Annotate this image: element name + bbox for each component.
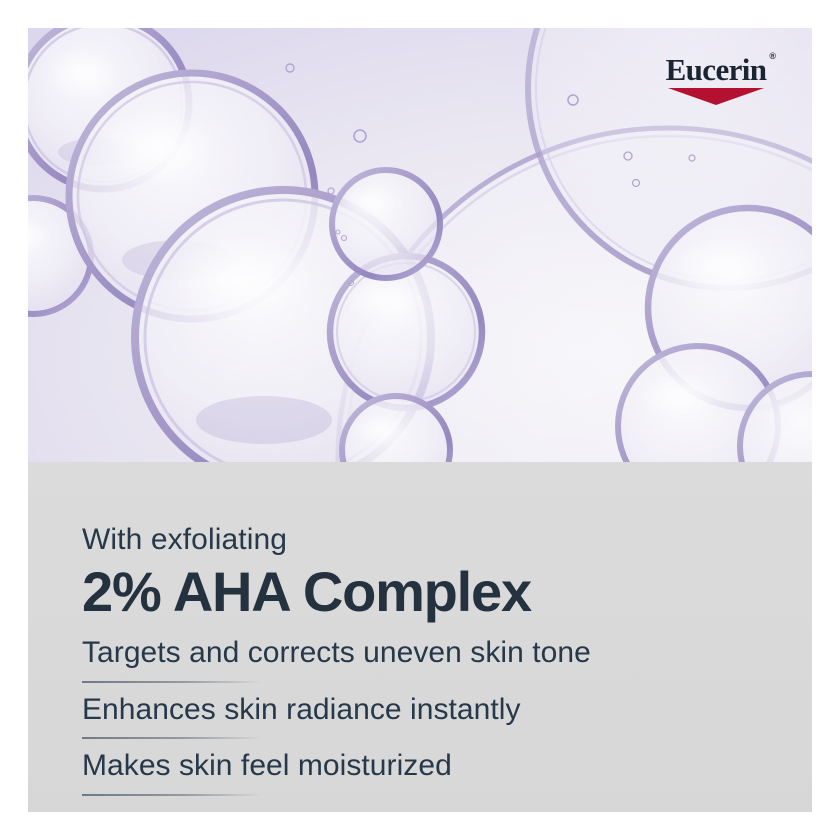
logo-wordmark: Eucerin® [666,54,767,85]
benefit-list: Targets and corrects uneven skin tone En… [82,636,722,796]
list-item: Enhances skin radiance instantly [82,693,722,740]
eucerin-logo: Eucerin® [662,54,770,105]
logo-wordmark-text: Eucerin [666,52,767,87]
copy-panel: With exfoliating 2% AHA Complex Targets … [28,462,812,812]
product-feature-banner: Eucerin® With exfoliating 2% AHA Complex… [0,0,840,840]
benefit-text: Makes skin feel moisturized [82,749,722,783]
list-item: Targets and corrects uneven skin tone [82,636,722,683]
triangle-down-icon [668,88,764,105]
benefit-text: Enhances skin radiance instantly [82,693,722,727]
benefit-text: Targets and corrects uneven skin tone [82,636,722,670]
eyebrow-text: With exfoliating [82,524,722,556]
hero-bubble-image: Eucerin® [28,28,812,462]
banner-card: Eucerin® With exfoliating 2% AHA Complex… [28,28,812,812]
registered-trademark-icon: ® [769,52,775,61]
page-title: 2% AHA Complex [82,562,722,622]
list-item: Makes skin feel moisturized [82,749,722,796]
copy-block: With exfoliating 2% AHA Complex Targets … [82,524,722,806]
divider [82,681,262,683]
divider [82,794,262,796]
divider [82,737,262,739]
